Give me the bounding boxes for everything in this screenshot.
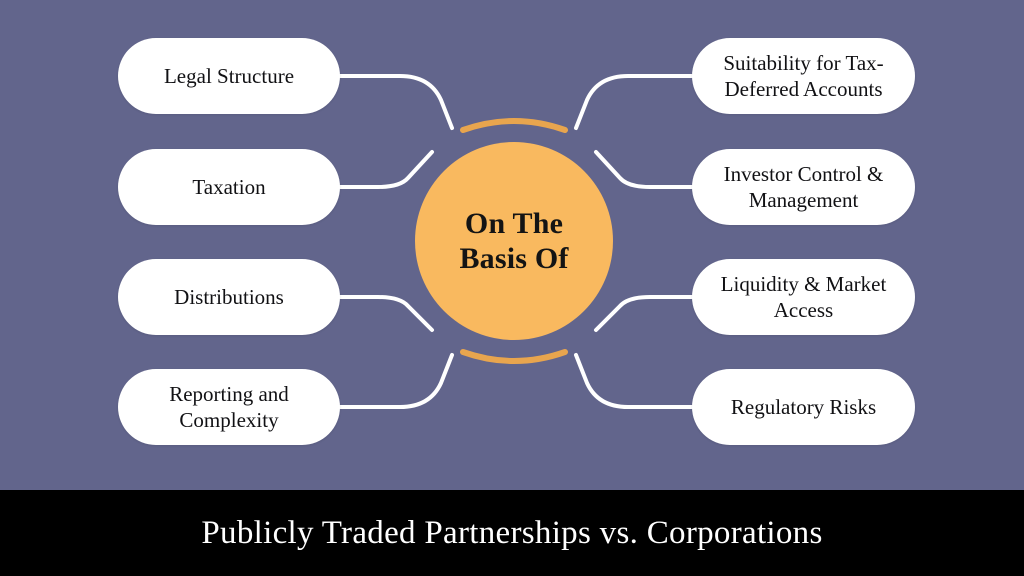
node-label: Regulatory Risks: [715, 394, 892, 420]
node-liquidity-and-market-access[interactable]: Liquidity & Market Access: [692, 259, 915, 335]
slide-canvas: On The Basis Of Legal Structure Taxation…: [0, 0, 1024, 576]
hub-label-line1: On The: [465, 207, 563, 240]
node-investor-control-and-management[interactable]: Investor Control & Management: [692, 149, 915, 225]
caption-bar: Publicly Traded Partnerships vs. Corpora…: [0, 490, 1024, 576]
node-label: Suitability for Tax-Deferred Accounts: [692, 50, 915, 102]
node-label: Liquidity & Market Access: [692, 271, 915, 323]
node-label: Taxation: [176, 174, 281, 200]
node-regulatory-risks[interactable]: Regulatory Risks: [692, 369, 915, 445]
node-distributions[interactable]: Distributions: [118, 259, 340, 335]
hub-circle[interactable]: On The Basis Of: [415, 142, 613, 340]
hub-label: On The Basis Of: [451, 206, 576, 277]
node-taxation[interactable]: Taxation: [118, 149, 340, 225]
caption-title: Publicly Traded Partnerships vs. Corpora…: [201, 517, 822, 550]
node-label: Investor Control & Management: [692, 161, 915, 213]
node-reporting-and-complexity[interactable]: Reporting and Complexity: [118, 369, 340, 445]
hub-label-line2: Basis Of: [459, 242, 568, 275]
node-label: Reporting and Complexity: [118, 381, 340, 433]
node-label: Legal Structure: [148, 63, 310, 89]
node-label: Distributions: [158, 284, 300, 310]
node-legal-structure[interactable]: Legal Structure: [118, 38, 340, 114]
node-suitability-for-tax-deferred-accounts[interactable]: Suitability for Tax-Deferred Accounts: [692, 38, 915, 114]
